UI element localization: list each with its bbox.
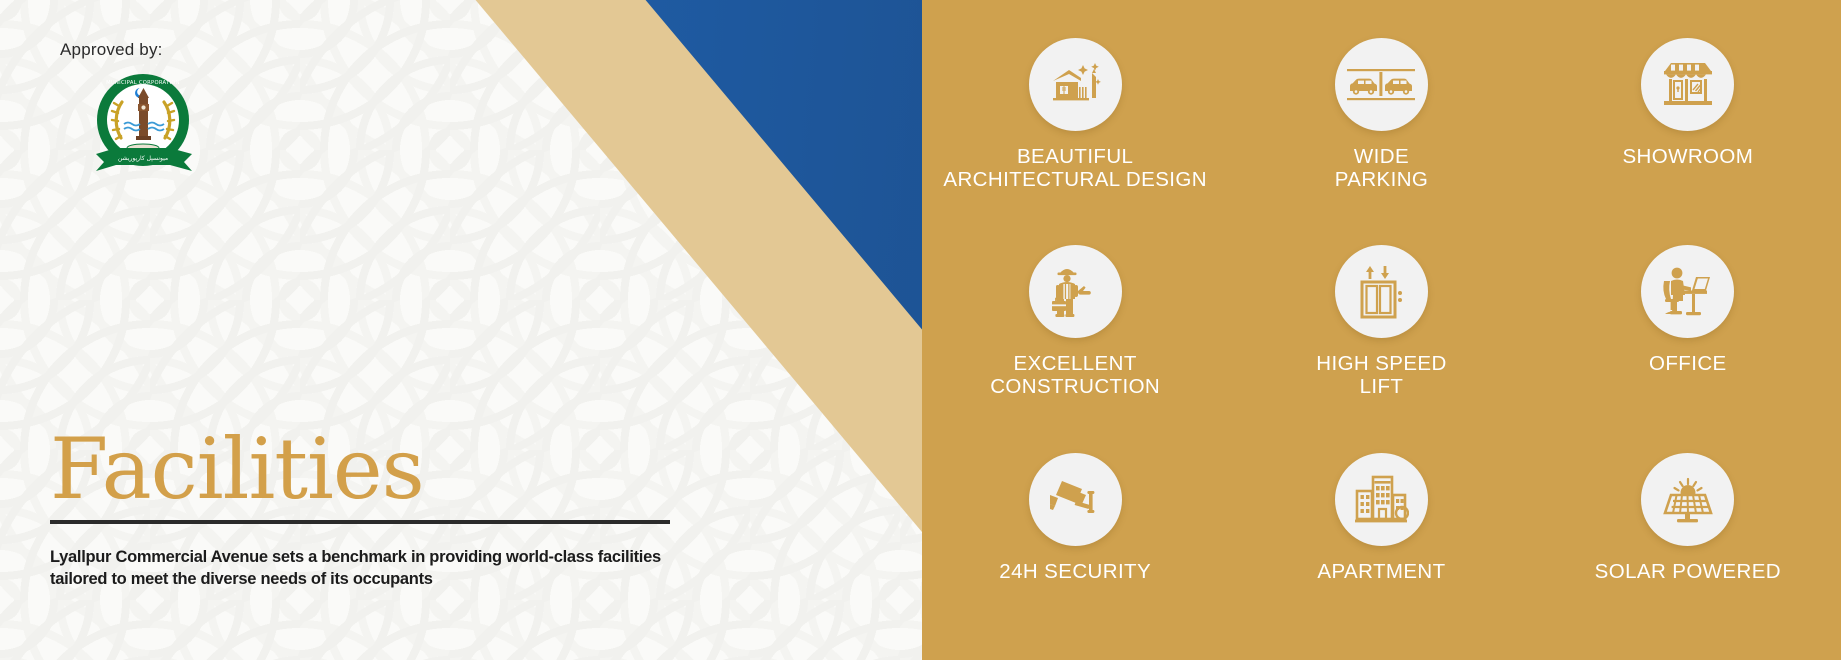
cctv-camera-icon [1029,453,1122,546]
construction-worker-icon [1029,245,1122,338]
municipal-corporation-faisalabad-logo: MUNICIPAL CORPORATION FAISALABAD [86,68,204,176]
storefront-awning-icon [1641,38,1734,131]
feature-office[interactable]: OFFICE [1535,245,1841,375]
feature-beautiful-architectural-design[interactable]: BEAUTIFUL ARCHITECTURAL DESIGN [922,38,1228,191]
facilities-poster: Approved by: MUNICIPAL CORPORATION FAISA… [0,0,1841,660]
feature-label: SHOWROOM [1622,145,1753,168]
feature-label: WIDE PARKING [1335,145,1429,191]
elevator-arrows-icon [1335,245,1428,338]
feature-high-speed-lift[interactable]: HIGH SPEED LIFT [1228,245,1534,398]
city-buildings-icon [1335,453,1428,546]
svg-text:MUNICIPAL CORPORATION: MUNICIPAL CORPORATION [106,80,180,86]
page-title: Facilities [50,430,690,510]
feature-excellent-construction[interactable]: EXCELLENT CONSTRUCTION [922,245,1228,398]
features-grid: BEAUTIFUL ARCHITECTURAL DESIGN [922,0,1841,660]
title-block: Facilities Lyallpur Commercial Avenue se… [50,430,690,590]
description-text: Lyallpur Commercial Avenue sets a benchm… [50,546,715,591]
feature-24h-security[interactable]: 24H SECURITY [922,453,1228,583]
feature-label: SOLAR POWERED [1595,560,1781,583]
feature-showroom[interactable]: SHOWROOM [1535,38,1841,168]
feature-label: EXCELLENT CONSTRUCTION [990,352,1160,398]
feature-label: APARTMENT [1317,560,1445,583]
approved-by-block: Approved by: MUNICIPAL CORPORATION FAISA… [50,40,260,66]
svg-text:میونسپل کارپوریشن: میونسپل کارپوریشن [118,155,168,162]
person-desk-laptop-icon [1641,245,1734,338]
feature-wide-parking[interactable]: WIDE PARKING [1228,38,1534,191]
feature-label: BEAUTIFUL ARCHITECTURAL DESIGN [943,145,1207,191]
solar-panel-sun-icon [1641,453,1734,546]
left-panel: Approved by: MUNICIPAL CORPORATION FAISA… [0,0,922,660]
house-pencil-sparkle-icon [1029,38,1122,131]
approved-by-label: Approved by: [60,40,260,60]
two-cars-parking-icon [1335,38,1428,131]
feature-label: OFFICE [1649,352,1727,375]
feature-label: 24H SECURITY [999,560,1151,583]
feature-apartment[interactable]: APARTMENT [1228,453,1534,583]
feature-label: HIGH SPEED LIFT [1316,352,1446,398]
title-underline-rule [50,520,670,524]
feature-solar-powered[interactable]: SOLAR POWERED [1535,453,1841,583]
